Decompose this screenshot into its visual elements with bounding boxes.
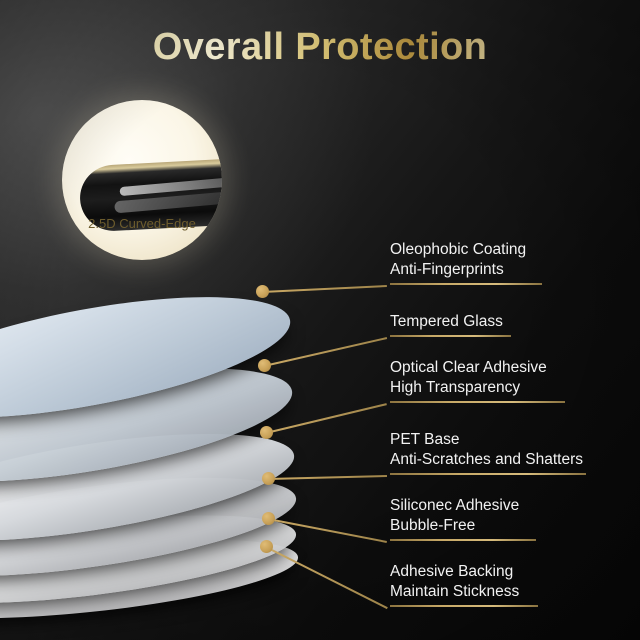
layer-marker-dot [258,359,271,372]
callout-5: Siliconec AdhesiveBubble-Free [390,496,590,541]
callout-subtitle: Maintain Stickness [390,582,590,602]
callout-underline [390,335,511,337]
layer-marker-dot [262,512,275,525]
callout-title: Adhesive Backing [390,562,590,582]
callout-4: PET BaseAnti-Scratches and Shatters [390,430,590,475]
curved-edge-inset: 2.5D Curved-Edge [62,100,222,260]
callout-title: Oleophobic Coating [390,240,590,260]
layer-marker-dot [260,426,273,439]
callout-subtitle: Anti-Fingerprints [390,260,590,280]
callout-subtitle: Anti-Scratches and Shatters [390,450,590,470]
callout-title: Optical Clear Adhesive [390,358,590,378]
callout-underline [390,539,536,541]
callout-title: PET Base [390,430,590,450]
callout-title: Siliconec Adhesive [390,496,590,516]
callout-subtitle: Bubble-Free [390,516,590,536]
layer-marker-dot [260,540,273,553]
callout-2: Tempered Glass [390,312,590,337]
callout-underline [390,473,586,475]
layer-marker-dot [256,285,269,298]
callout-underline [390,605,538,607]
callout-1: Oleophobic CoatingAnti-Fingerprints [390,240,590,285]
inset-caption-label: 2.5D Curved-Edge [62,216,222,231]
infographic-canvas: 2.5D Curved-Edge Overall Protection Oleo… [0,0,640,640]
callout-3: Optical Clear AdhesiveHigh Transparency [390,358,590,403]
callout-title: Tempered Glass [390,312,590,332]
callout-underline [390,283,542,285]
callout-6: Adhesive BackingMaintain Stickness [390,562,590,607]
page-title: Overall Protection [0,26,640,69]
callout-underline [390,401,565,403]
callout-subtitle: High Transparency [390,378,590,398]
layer-marker-dot [262,472,275,485]
